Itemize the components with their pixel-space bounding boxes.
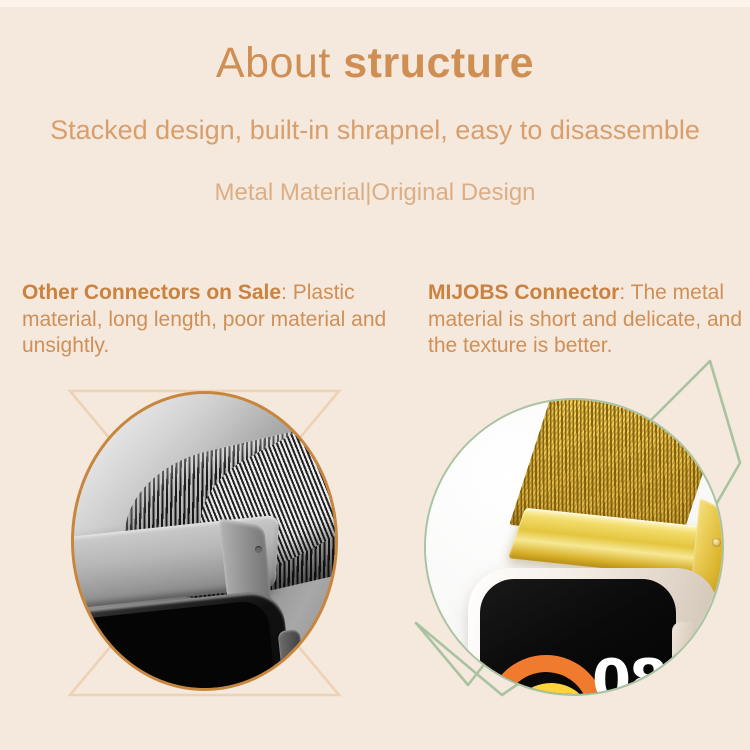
left-watch-time: 08 xyxy=(100,670,191,691)
right-caption: MIJOBS Connector: The metal material is … xyxy=(428,280,743,360)
left-caption: Other Connectors on Sale: Plastic materi… xyxy=(22,280,412,360)
cream-watch-side-button xyxy=(672,622,698,678)
left-product-photo: 08 xyxy=(71,391,338,691)
page-title-bold: structure xyxy=(343,39,534,87)
right-caption-heading: MIJOBS Connector xyxy=(428,281,619,304)
page-subtitle: Stacked design, built-in shrapnel, easy … xyxy=(0,112,750,148)
page-title-regular: About xyxy=(216,39,343,87)
left-caption-separator: : xyxy=(281,281,293,304)
right-product-photo: 08 16 xyxy=(424,398,724,696)
page-tagline: Metal Material|Original Design xyxy=(0,177,750,209)
product-detail-page: About structure Stacked design, built-in… xyxy=(0,0,750,750)
top-highlight-strip xyxy=(0,0,750,7)
gold-connector-screw xyxy=(712,538,721,547)
right-watch-hours: 08 xyxy=(592,653,666,696)
left-caption-heading: Other Connectors on Sale xyxy=(22,281,281,304)
connector-pin xyxy=(255,546,262,553)
black-watch-screen: 08 xyxy=(71,599,281,691)
right-caption-separator: : xyxy=(619,281,630,304)
page-title: About structure xyxy=(0,38,750,88)
cream-watch-screen: 08 16 xyxy=(480,579,676,696)
